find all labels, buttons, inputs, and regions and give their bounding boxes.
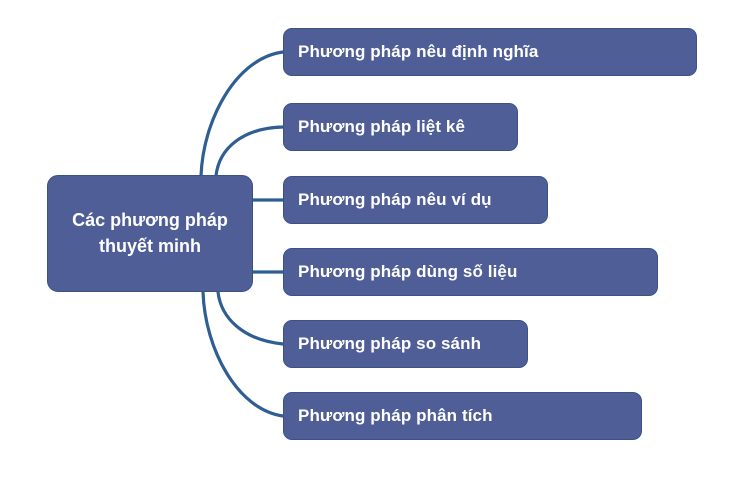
branch-node-4-label: Phương pháp dùng số liệu: [298, 262, 517, 282]
root-node-label: Các phương pháp thuyết minh: [58, 208, 242, 259]
branch-node-1-label: Phương pháp nêu định nghĩa: [298, 42, 538, 62]
branch-node-5-label: Phương pháp so sánh: [298, 334, 481, 354]
branch-node-5[interactable]: Phương pháp so sánh: [283, 320, 528, 368]
branch-node-1[interactable]: Phương pháp nêu định nghĩa: [283, 28, 697, 76]
connector-line-1: [201, 52, 283, 176]
root-node[interactable]: Các phương pháp thuyết minh: [47, 175, 253, 292]
connector-line-5: [218, 292, 283, 344]
branch-node-6-label: Phương pháp phân tích: [298, 406, 493, 426]
branch-node-2-label: Phương pháp liệt kê: [298, 117, 465, 137]
diagram-canvas: Các phương pháp thuyết minh Phương pháp …: [0, 0, 750, 500]
branch-node-3[interactable]: Phương pháp nêu ví dụ: [283, 176, 548, 224]
connector-line-2: [216, 127, 283, 176]
branch-node-4[interactable]: Phương pháp dùng số liệu: [283, 248, 658, 296]
connector-line-6: [203, 292, 283, 416]
branch-node-2[interactable]: Phương pháp liệt kê: [283, 103, 518, 151]
branch-node-3-label: Phương pháp nêu ví dụ: [298, 190, 492, 210]
branch-node-6[interactable]: Phương pháp phân tích: [283, 392, 642, 440]
